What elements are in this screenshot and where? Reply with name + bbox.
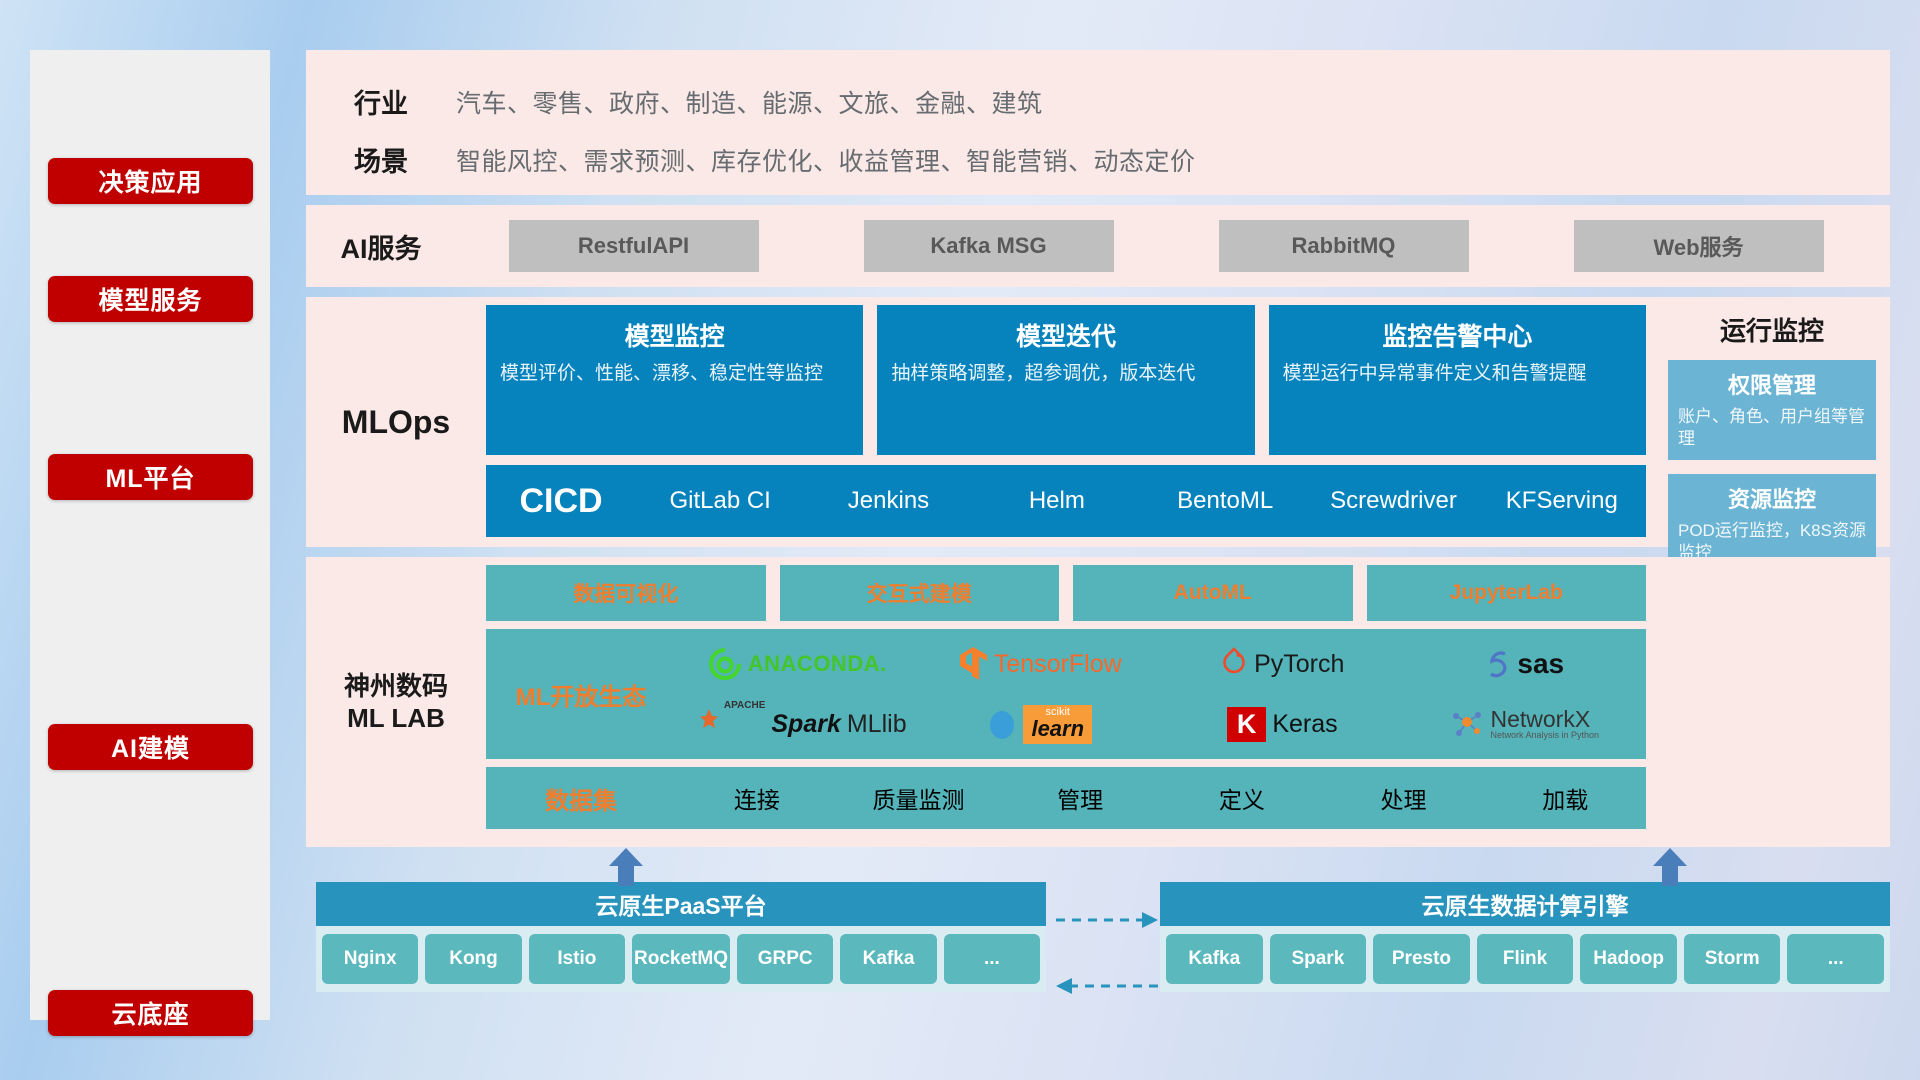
rail-chip-decision-apps[interactable]: 决策应用 — [48, 158, 253, 204]
scikit-orange-badge: scikit learn — [1023, 705, 1092, 744]
keras-wordmark: Keras — [1272, 710, 1337, 739]
paas-chip-kong[interactable]: Kong — [425, 934, 521, 984]
spark-star-icon — [688, 707, 718, 741]
monitor-card-title: 权限管理 — [1678, 368, 1866, 400]
mlops-content: 模型监控 模型评价、性能、漂移、稳定性等监控 模型迭代 抽样策略调整，超参调优，… — [486, 297, 1654, 547]
tensorflow-logo[interactable]: TensorFlow — [919, 634, 1162, 694]
dataset-item-quality-monitoring[interactable]: 质量监测 — [838, 781, 1000, 815]
band-divider-3 — [306, 547, 1890, 557]
monitor-card-title: 资源监控 — [1678, 482, 1866, 514]
learn-word: learn — [1031, 718, 1084, 740]
dataset-item-define[interactable]: 定义 — [1161, 781, 1323, 815]
mlops-card-model-monitoring[interactable]: 模型监控 模型评价、性能、漂移、稳定性等监控 — [486, 305, 863, 455]
rail-chip-model-service[interactable]: 模型服务 — [48, 276, 253, 322]
mlops-card-list: 模型监控 模型评价、性能、漂移、稳定性等监控 模型迭代 抽样策略调整，超参调优，… — [486, 305, 1646, 455]
paas-chip-istio[interactable]: Istio — [529, 934, 625, 984]
pytorch-logo[interactable]: PyTorch — [1161, 634, 1404, 694]
tensorflow-icon — [958, 646, 988, 682]
engine-chip-hadoop[interactable]: Hadoop — [1580, 934, 1677, 984]
cicd-item-bentoml[interactable]: BentoML — [1141, 488, 1309, 513]
dataset-row: 数据集 连接 质量监测 管理 定义 处理 加载 — [486, 767, 1646, 829]
sas-wordmark: sas — [1517, 648, 1564, 680]
paas-chip-kafka[interactable]: Kafka — [840, 934, 936, 984]
paas-chip-rocketmq[interactable]: RocketMQ — [632, 934, 730, 984]
sas-logo[interactable]: sas — [1404, 634, 1647, 694]
keras-k-mark: K — [1227, 707, 1267, 742]
mlops-card-title: 监控告警中心 — [1283, 317, 1632, 353]
paas-chip-more[interactable]: ... — [944, 934, 1040, 984]
pytorch-wordmark: PyTorch — [1254, 650, 1344, 679]
rail-chip-ml-platform[interactable]: ML平台 — [48, 454, 253, 500]
mllib-wordmark: MLlib — [847, 710, 907, 739]
monitor-card-desc: 账户、角色、用户组等管理 — [1678, 406, 1866, 450]
ai-service-band: AI服务 RestfulAPI Kafka MSG RabbitMQ Web服务 — [306, 205, 1890, 287]
engine-chip-storm[interactable]: Storm — [1684, 934, 1781, 984]
paas-chip-grpc[interactable]: GRPC — [737, 934, 833, 984]
ai-service-chip-web-service[interactable]: Web服务 — [1574, 220, 1824, 272]
cicd-bar: CICD GitLab CI Jenkins Helm BentoML Scre… — [486, 465, 1646, 537]
ml-lab-tool-list: 数据可视化 交互式建模 AutoML JupyterLab — [486, 565, 1646, 621]
ml-open-ecosystem-row: ML开放生态 ANACONDA. — [486, 629, 1646, 759]
ml-platform-band: MLOps 模型监控 模型评价、性能、漂移、稳定性等监控 模型迭代 抽样策略调整… — [306, 297, 1890, 547]
arrow-right-icon — [1142, 912, 1158, 928]
ai-service-chip-rabbitmq[interactable]: RabbitMQ — [1219, 220, 1469, 272]
ml-open-ecosystem-label: ML开放生态 — [486, 677, 676, 712]
anaconda-wordmark: ANACONDA. — [748, 651, 887, 677]
rail-chip-cloud-base[interactable]: 云底座 — [48, 990, 253, 1036]
anaconda-logo[interactable]: ANACONDA. — [676, 634, 919, 694]
mlops-section: MLOps 模型监控 模型评价、性能、漂移、稳定性等监控 模型迭代 抽样策略调整… — [306, 297, 1654, 547]
dataset-item-connect[interactable]: 连接 — [676, 781, 838, 815]
paas-up-arrow-icon — [606, 846, 646, 886]
industry-label: 行业 — [306, 82, 456, 121]
sas-icon — [1485, 649, 1511, 679]
engine-chip-spark[interactable]: Spark — [1270, 934, 1367, 984]
cicd-title: CICD — [486, 482, 636, 521]
ml-lab-content: 数据可视化 交互式建模 AutoML JupyterLab ML开放生态 — [486, 557, 1654, 847]
engine-up-arrow-icon — [1650, 846, 1690, 886]
tensorflow-wordmark: TensorFlow — [994, 650, 1122, 679]
engine-chip-more[interactable]: ... — [1787, 934, 1884, 984]
cicd-item-screwdriver[interactable]: Screwdriver — [1309, 488, 1477, 513]
runtime-monitor-column: 运行监控 权限管理 账户、角色、用户组等管理 资源监控 POD运行监控，K8S资… — [1654, 297, 1890, 547]
band-divider-1 — [306, 195, 1890, 205]
industry-line: 行业 汽车、零售、政府、制造、能源、文旅、金融、建筑 — [306, 73, 1890, 131]
cicd-item-gitlab-ci[interactable]: GitLab CI — [636, 488, 804, 513]
cicd-item-kfserving[interactable]: KFServing — [1478, 488, 1646, 513]
tool-chip-interactive-modeling[interactable]: 交互式建模 — [780, 565, 1060, 621]
spark-mllib-logo[interactable]: APACHE Spark MLlib — [676, 694, 919, 754]
mlops-card-desc: 模型评价、性能、漂移、稳定性等监控 — [500, 361, 849, 386]
pytorch-icon — [1220, 647, 1248, 681]
mlops-card-alert-center[interactable]: 监控告警中心 模型运行中异常事件定义和告警提醒 — [1269, 305, 1646, 455]
paas-chip-nginx[interactable]: Nginx — [322, 934, 418, 984]
decision-apps-band: 行业 汽车、零售、政府、制造、能源、文旅、金融、建筑 场景 智能风控、需求预测、… — [306, 50, 1890, 195]
rail-chip-ai-modeling[interactable]: AI建模 — [48, 724, 253, 770]
mlops-card-title: 模型监控 — [500, 317, 849, 353]
engine-chip-kafka[interactable]: Kafka — [1166, 934, 1263, 984]
networkx-wordmark: NetworkX — [1490, 708, 1599, 731]
dataset-label: 数据集 — [486, 781, 676, 816]
ai-modeling-band: 神州数码 ML LAB 数据可视化 交互式建模 AutoML JupyterLa… — [306, 557, 1890, 847]
mlops-card-desc: 抽样策略调整，超参调优，版本迭代 — [891, 361, 1240, 386]
engine-chip-presto[interactable]: Presto — [1373, 934, 1470, 984]
tool-chip-jupyterlab[interactable]: JupyterLab — [1367, 565, 1647, 621]
data-engine-group: 云原生数据计算引擎 Kafka Spark Presto Flink Hadoo… — [1160, 882, 1890, 992]
mlops-card-title: 模型迭代 — [891, 317, 1240, 353]
bidirectional-link-arrows — [1054, 908, 1160, 1008]
mlops-card-model-iteration[interactable]: 模型迭代 抽样策略调整，超参调优，版本迭代 — [877, 305, 1254, 455]
networkx-logo[interactable]: NetworkX Network Analysis in Python — [1404, 694, 1647, 754]
arrow-left-icon — [1056, 978, 1072, 994]
spark-apache-text: APACHE — [724, 700, 765, 711]
industry-value: 汽车、零售、政府、制造、能源、文旅、金融、建筑 — [456, 84, 1043, 120]
keras-logo[interactable]: K Keras — [1161, 694, 1404, 754]
dataset-item-manage[interactable]: 管理 — [999, 781, 1161, 815]
scenario-label: 场景 — [306, 140, 456, 179]
networkx-tagline: Network Analysis in Python — [1490, 731, 1599, 740]
paas-title: 云原生PaaS平台 — [316, 882, 1046, 926]
paas-chip-list: Nginx Kong Istio RocketMQ GRPC Kafka ... — [316, 926, 1046, 992]
spark-wordmark: Spark — [771, 710, 840, 739]
ai-service-chip-list: RestfulAPI Kafka MSG RabbitMQ Web服务 — [456, 220, 1890, 272]
runtime-monitor-column-filler — [1654, 557, 1890, 847]
dataset-item-list: 连接 质量监测 管理 定义 处理 加载 — [676, 781, 1646, 815]
dataset-item-process[interactable]: 处理 — [1323, 781, 1485, 815]
ecosystem-logo-grid: ANACONDA. TensorFlow — [676, 634, 1646, 754]
ml-lab-label-cn: 神州数码 — [344, 670, 448, 703]
scikit-blue-blob-icon — [987, 707, 1017, 741]
cicd-item-jenkins[interactable]: Jenkins — [804, 488, 972, 513]
scenario-line: 场景 智能风控、需求预测、库存优化、收益管理、智能营销、动态定价 — [306, 131, 1890, 189]
ml-lab-section: 神州数码 ML LAB 数据可视化 交互式建模 AutoML JupyterLa… — [306, 557, 1654, 847]
ml-lab-label: 神州数码 ML LAB — [306, 557, 486, 847]
mlops-label: MLOps — [306, 297, 486, 547]
scenario-value: 智能风控、需求预测、库存优化、收益管理、智能营销、动态定价 — [456, 142, 1196, 178]
tool-chip-data-visualization[interactable]: 数据可视化 — [486, 565, 766, 621]
cicd-item-helm[interactable]: Helm — [973, 488, 1141, 513]
monitor-card-permissions[interactable]: 权限管理 账户、角色、用户组等管理 — [1668, 360, 1876, 460]
engine-chip-list: Kafka Spark Presto Flink Hadoop Storm ..… — [1160, 926, 1890, 992]
band-divider-2 — [306, 287, 1890, 297]
networkx-graph-icon — [1450, 708, 1484, 740]
runtime-monitor-title: 运行监控 — [1668, 305, 1876, 360]
dataset-item-load[interactable]: 加载 — [1484, 781, 1646, 815]
ml-lab-label-en: ML LAB — [347, 702, 445, 735]
ai-service-label: AI服务 — [306, 227, 456, 266]
engine-title: 云原生数据计算引擎 — [1160, 882, 1890, 926]
scikit-learn-logo[interactable]: scikit learn — [919, 694, 1162, 754]
left-rail: 决策应用 模型服务 ML平台 AI建模 云底座 — [30, 50, 270, 1020]
main-stack: 行业 汽车、零售、政府、制造、能源、文旅、金融、建筑 场景 智能风控、需求预测、… — [306, 50, 1890, 847]
engine-chip-flink[interactable]: Flink — [1477, 934, 1574, 984]
mlops-card-desc: 模型运行中异常事件定义和告警提醒 — [1283, 361, 1632, 386]
ai-service-chip-restfulapi[interactable]: RestfulAPI — [509, 220, 759, 272]
anaconda-icon — [708, 647, 742, 681]
ai-service-chip-kafka-msg[interactable]: Kafka MSG — [864, 220, 1114, 272]
paas-group: 云原生PaaS平台 Nginx Kong Istio RocketMQ GRPC… — [316, 882, 1046, 992]
cloud-base-band: 云原生PaaS平台 Nginx Kong Istio RocketMQ GRPC… — [306, 860, 1890, 1020]
tool-chip-automl[interactable]: AutoML — [1073, 565, 1353, 621]
